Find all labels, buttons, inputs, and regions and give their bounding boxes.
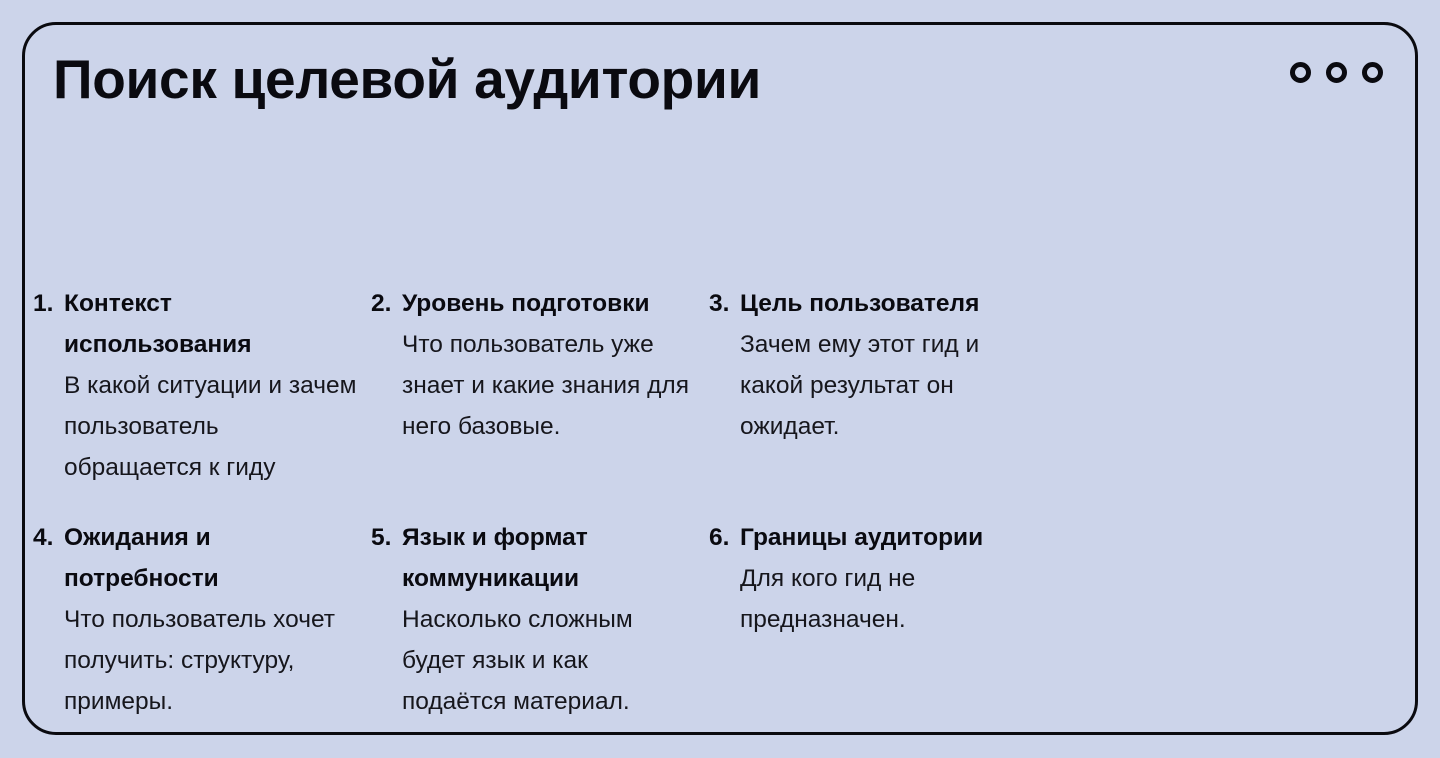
list-item-title: Уровень подготовки bbox=[402, 283, 695, 324]
list-item-number: 4. bbox=[33, 517, 64, 558]
card-header: Поиск целевой аудитории bbox=[25, 25, 1415, 145]
page-title: Поиск целевой аудитории bbox=[53, 51, 761, 109]
list-item-description: В какой ситуации и зачем пользователь об… bbox=[64, 365, 357, 488]
list-item-body: Уровень подготовки Что пользователь уже … bbox=[402, 283, 695, 447]
list-item-title: Контекст использования bbox=[64, 283, 357, 365]
list-item: 6. Границы аудитории Для кого гид не пре… bbox=[709, 517, 1047, 722]
window-dot-1-icon[interactable] bbox=[1290, 62, 1311, 83]
list-item-number: 1. bbox=[33, 283, 64, 324]
screen-root: Поиск целевой аудитории 1. Контекст испо… bbox=[0, 0, 1440, 758]
list-item-number: 6. bbox=[709, 517, 740, 558]
list-item-title: Язык и формат коммуникации bbox=[402, 517, 695, 599]
list-item-body: Язык и формат коммуникации Насколько сло… bbox=[402, 517, 695, 722]
list-item-title: Границы аудитории bbox=[740, 517, 1033, 558]
list-item-body: Границы аудитории Для кого гид не предна… bbox=[740, 517, 1033, 640]
list-item-body: Ожидания и потребности Что пользователь … bbox=[64, 517, 357, 722]
list-item-description: Зачем ему этот гид и какой результат он … bbox=[740, 324, 1033, 447]
list-item-number: 3. bbox=[709, 283, 740, 324]
list-item-number: 2. bbox=[371, 283, 402, 324]
list-item-description: Насколько сложным будет язык и как подаё… bbox=[402, 599, 695, 722]
list-item-description: Что пользователь хочет получить: структу… bbox=[64, 599, 357, 722]
list-item-description: Для кого гид не предназначен. bbox=[740, 558, 1033, 640]
window-dot-3-icon[interactable] bbox=[1362, 62, 1383, 83]
criteria-list: 1. Контекст использования В какой ситуац… bbox=[33, 283, 1403, 722]
list-item-number: 5. bbox=[371, 517, 402, 558]
list-item: 3. Цель пользователя Зачем ему этот гид … bbox=[709, 283, 1047, 488]
list-item-description: Что пользователь уже знает и какие знани… bbox=[402, 324, 695, 447]
list-item: 5. Язык и формат коммуникации Насколько … bbox=[371, 517, 709, 722]
list-item-title: Цель пользователя bbox=[740, 283, 1033, 324]
audience-research-card: Поиск целевой аудитории 1. Контекст испо… bbox=[22, 22, 1418, 735]
list-item: 2. Уровень подготовки Что пользователь у… bbox=[371, 283, 709, 488]
list-item-body: Контекст использования В какой ситуации … bbox=[64, 283, 357, 488]
window-dot-2-icon[interactable] bbox=[1326, 62, 1347, 83]
list-item-title: Ожидания и потребности bbox=[64, 517, 357, 599]
window-controls bbox=[1290, 62, 1383, 83]
list-item: 1. Контекст использования В какой ситуац… bbox=[33, 283, 371, 488]
list-item: 4. Ожидания и потребности Что пользовате… bbox=[33, 517, 371, 722]
list-item-body: Цель пользователя Зачем ему этот гид и к… bbox=[740, 283, 1033, 447]
